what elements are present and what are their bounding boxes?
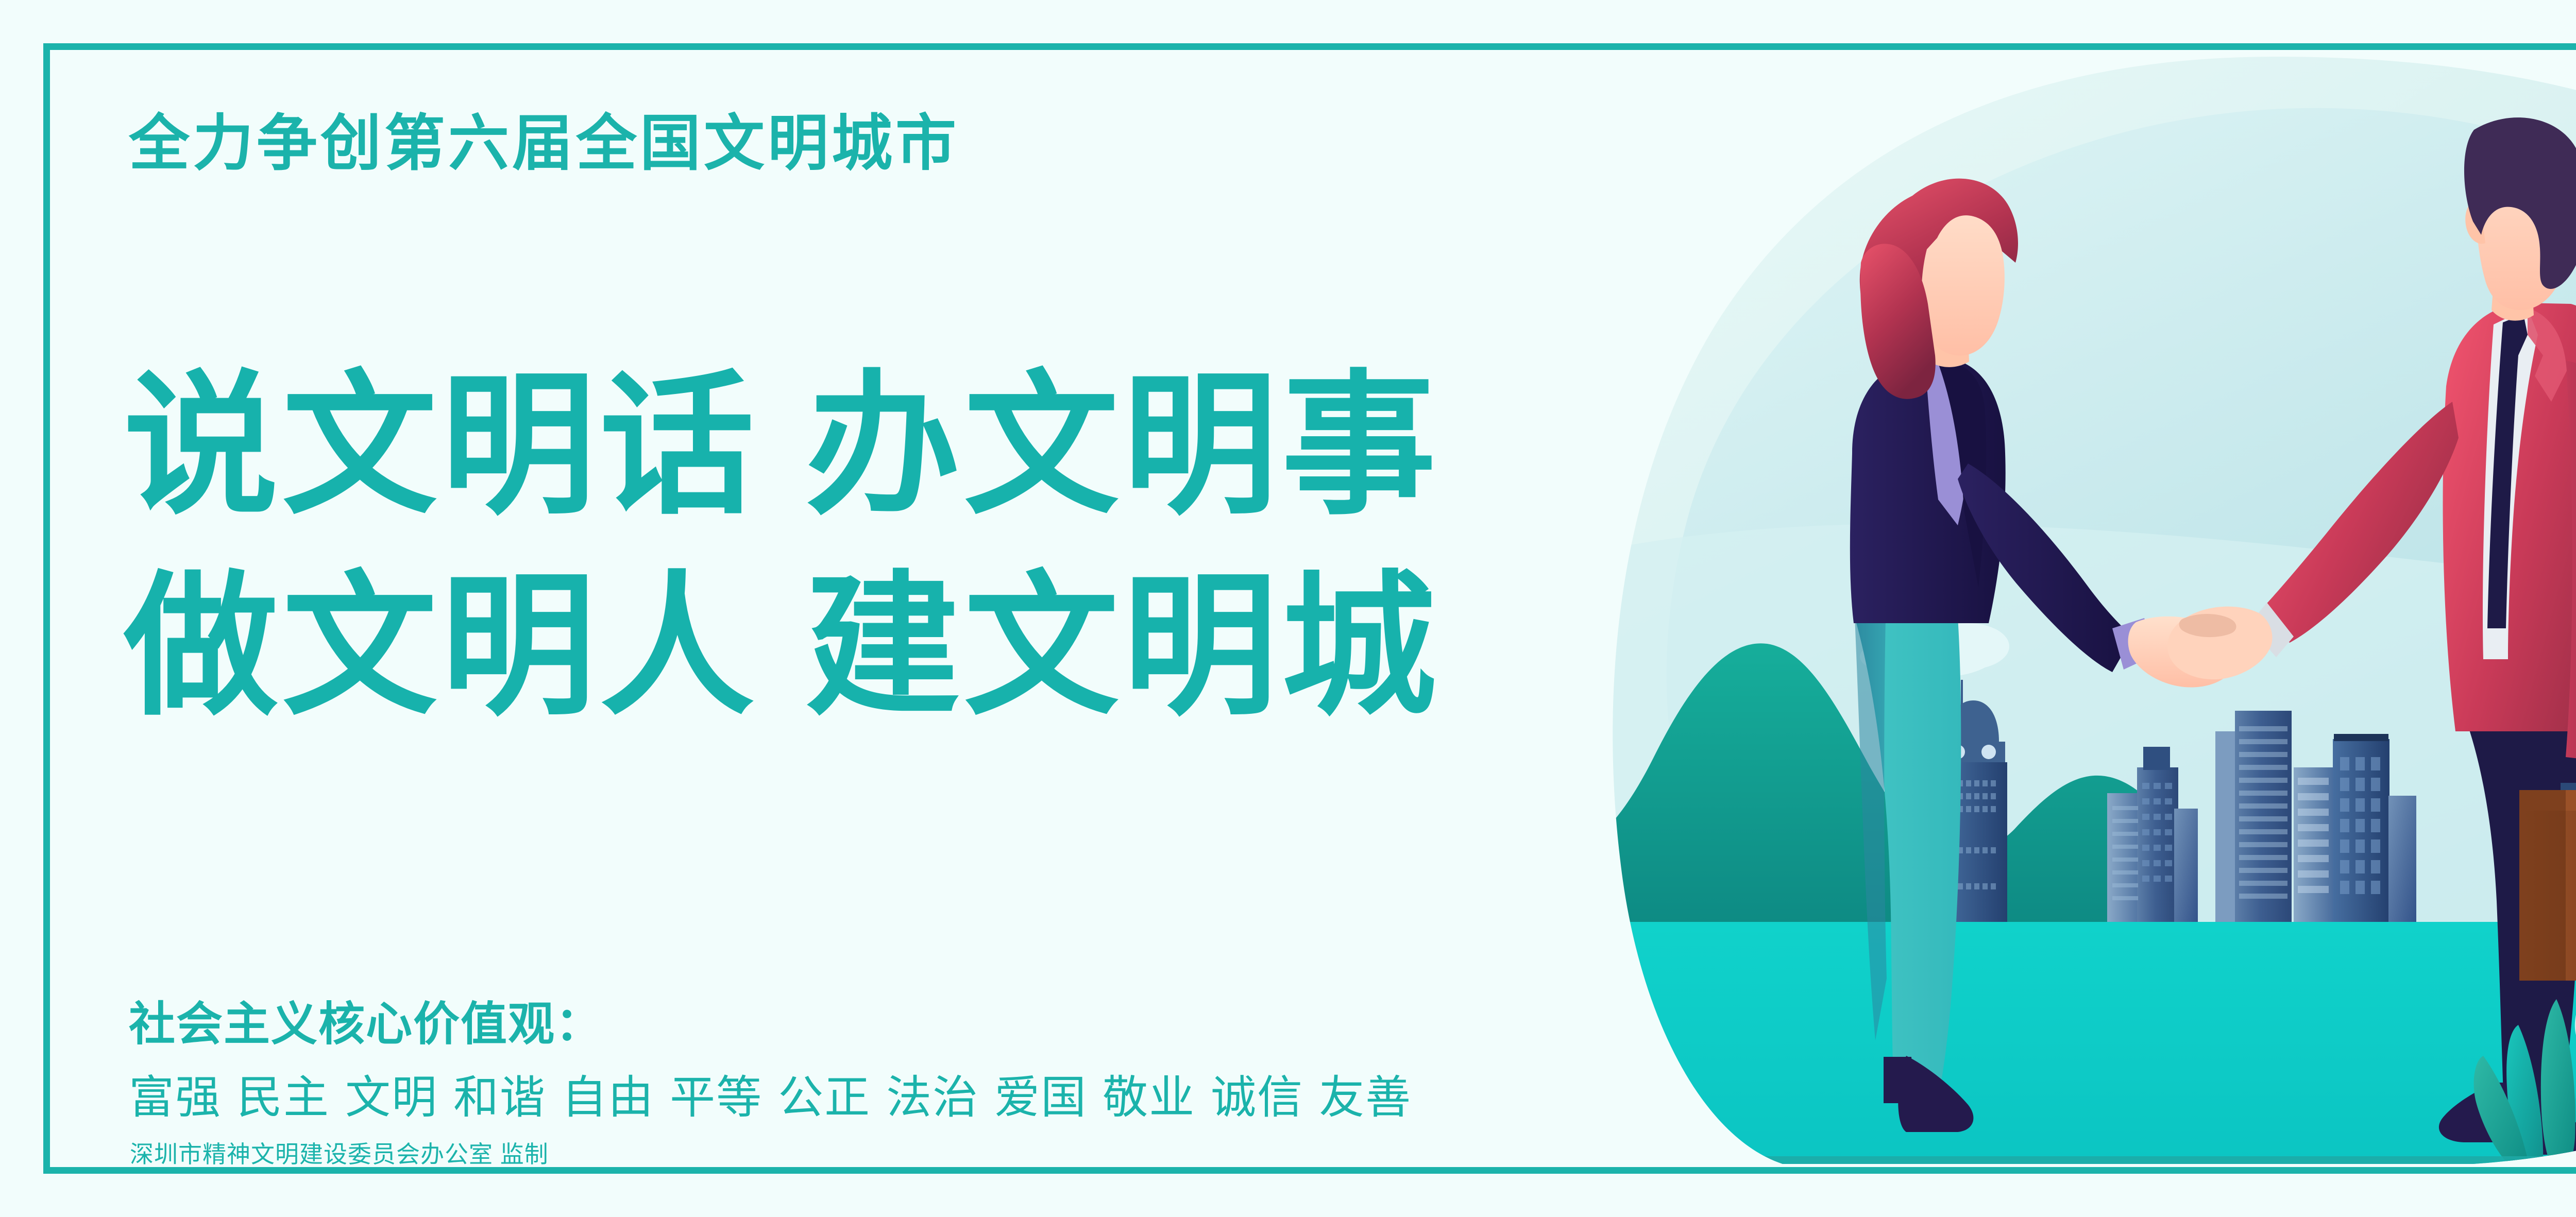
- briefcase-icon: [2519, 757, 2576, 981]
- core-value-item: 公正: [778, 1072, 871, 1123]
- text-column: 全力争创第六届全国文明城市 说文明话 办文明事 做文明人 建文明城 社会主义核心…: [124, 77, 1669, 1133]
- credit-line: 深圳市精神文明建设委员会办公室 监制: [130, 1136, 549, 1170]
- core-value-item: 和谐: [453, 1072, 546, 1123]
- core-value-item: 富强: [129, 1072, 222, 1123]
- core-value-item: 友善: [1319, 1072, 1412, 1123]
- core-value-item: 平等: [670, 1072, 762, 1123]
- core-values-title: 社会主义核心价值观：: [129, 986, 603, 1053]
- slogan-line-1: 说文明话 办文明事: [124, 368, 1440, 523]
- page-headline: 全力争创第六届全国文明城市: [129, 113, 959, 174]
- illustration-svg: [1597, 46, 2576, 1174]
- core-value-item: 文明: [345, 1072, 438, 1123]
- core-value-item: 爱国: [994, 1072, 1087, 1123]
- ground-plane: [1597, 922, 2576, 1174]
- core-values-list: 富强民主文明和谐自由平等公正法治爱国敬业诚信友善: [129, 1061, 1412, 1126]
- background-blob: [1597, 46, 2576, 1174]
- ground-edge-line: [1597, 1156, 2576, 1168]
- poster-root: 全力争创第六届全国文明城市 说文明话 办文明事 做文明人 建文明城 社会主义核心…: [0, 0, 2576, 1217]
- core-value-item: 法治: [886, 1072, 979, 1123]
- slogan-line-2: 做文明人 建文明城: [124, 569, 1440, 724]
- illustration-panel: [1597, 46, 2576, 1174]
- core-value-item: 自由: [562, 1072, 654, 1123]
- core-value-item: 民主: [237, 1072, 330, 1123]
- core-value-item: 敬业: [1103, 1072, 1195, 1123]
- core-value-item: 诚信: [1211, 1072, 1303, 1123]
